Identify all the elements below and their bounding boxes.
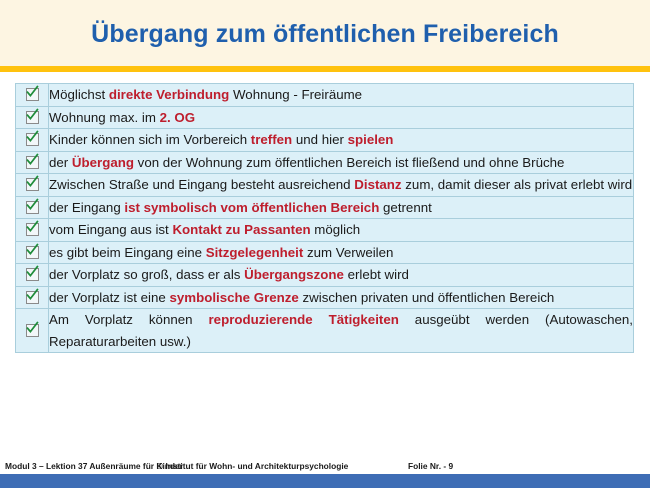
checklist-item-text: vom Eingang aus ist Kontakt zu Passanten…	[49, 219, 634, 242]
checkbox-cell[interactable]	[16, 129, 49, 152]
checkbox-checked-icon[interactable]	[26, 178, 39, 191]
item-text-segment: vom Eingang aus ist	[49, 222, 172, 237]
highlighted-keyword: Übergang	[72, 155, 134, 170]
checklist-item-text: Möglichst direkte Verbindung Wohnung - F…	[49, 84, 634, 107]
checklist-row[interactable]: der Vorplatz so groß, dass er als Überga…	[16, 264, 634, 287]
checklist-row[interactable]: der Vorplatz ist eine symbolische Grenze…	[16, 286, 634, 309]
checkbox-checked-icon[interactable]	[26, 291, 39, 304]
highlighted-keyword: 2. OG	[160, 110, 195, 125]
item-text-segment: zum, damit dieser als privat erlebt wird	[402, 177, 633, 192]
slide-footer: Modul 3 – Lektion 37 Außenräume für Kind…	[0, 458, 650, 474]
checklist-item-text: es gibt beim Eingang eine Sitzgelegenhei…	[49, 241, 634, 264]
page-title: Übergang zum öffentlichen Freibereich	[91, 22, 559, 47]
item-text-segment: Kinder können sich im Vorbereich	[49, 132, 251, 147]
item-text-segment: Wohnung - Freiräume	[229, 87, 362, 102]
checkbox-checked-icon[interactable]	[26, 268, 39, 281]
checkbox-cell[interactable]	[16, 286, 49, 309]
footer-slide-number: Folie Nr. - 9	[408, 461, 453, 471]
item-text-segment: Am Vorplatz können	[49, 312, 209, 327]
item-text-segment: der Vorplatz ist eine	[49, 290, 169, 305]
item-text-segment: möglich	[311, 222, 361, 237]
checkbox-checked-icon[interactable]	[26, 156, 39, 169]
checklist-row[interactable]: der Eingang ist symbolisch vom öffentlic…	[16, 196, 634, 219]
checklist-item-text: der Vorplatz ist eine symbolische Grenze…	[49, 286, 634, 309]
highlighted-keyword: Übergangszone	[244, 267, 344, 282]
footer-copyright-label: © Institut für Wohn- und Architekturpsyc…	[157, 461, 348, 471]
highlighted-keyword: Kontakt zu Passanten	[172, 222, 310, 237]
checklist-row[interactable]: der Übergang von der Wohnung zum öffentl…	[16, 151, 634, 174]
item-text-segment: es gibt beim Eingang eine	[49, 245, 206, 260]
checkbox-checked-icon[interactable]	[26, 133, 39, 146]
checklist-body: Möglichst direkte Verbindung Wohnung - F…	[16, 84, 634, 353]
checklist-row[interactable]: es gibt beim Eingang eine Sitzgelegenhei…	[16, 241, 634, 264]
highlighted-keyword: ist symbolisch vom öffentlichen Bereich	[124, 200, 379, 215]
item-text-segment: Möglichst	[49, 87, 109, 102]
item-text-segment: Zwischen Straße und Eingang besteht ausr…	[49, 177, 354, 192]
checklist-row[interactable]: vom Eingang aus ist Kontakt zu Passanten…	[16, 219, 634, 242]
item-text-segment: getrennt	[379, 200, 432, 215]
checklist-item-text: Am Vorplatz können reproduzierende Tätig…	[49, 309, 634, 353]
checklist-item-text: der Vorplatz so groß, dass er als Überga…	[49, 264, 634, 287]
checkbox-checked-icon[interactable]	[26, 246, 39, 259]
checkbox-checked-icon[interactable]	[26, 201, 39, 214]
highlighted-keyword: Distanz	[354, 177, 401, 192]
checklist-row[interactable]: Kinder können sich im Vorbereich treffen…	[16, 129, 634, 152]
item-text-segment: der	[49, 155, 72, 170]
checkbox-cell[interactable]	[16, 241, 49, 264]
checklist-table: Möglichst direkte Verbindung Wohnung - F…	[15, 83, 634, 353]
highlighted-keyword: symbolische Grenze	[169, 290, 298, 305]
highlighted-keyword: direkte Verbindung	[109, 87, 229, 102]
checklist-item-text: Kinder können sich im Vorbereich treffen…	[49, 129, 634, 152]
checklist-item-text: Wohnung max. im 2. OG	[49, 106, 634, 129]
title-underline-rule	[0, 66, 650, 72]
checkbox-checked-icon[interactable]	[26, 111, 39, 124]
item-text-segment: zwischen privaten und öffentlichen Berei…	[299, 290, 555, 305]
item-text-segment: erlebt wird	[344, 267, 409, 282]
checkbox-cell[interactable]	[16, 84, 49, 107]
checkbox-cell[interactable]	[16, 106, 49, 129]
checkbox-cell[interactable]	[16, 219, 49, 242]
checkbox-cell[interactable]	[16, 309, 49, 353]
checkbox-cell[interactable]	[16, 264, 49, 287]
item-text-segment: Wohnung max. im	[49, 110, 160, 125]
checkbox-cell[interactable]	[16, 151, 49, 174]
slide-header: Übergang zum öffentlichen Freibereich	[0, 0, 650, 66]
checklist-item-text: Zwischen Straße und Eingang besteht ausr…	[49, 174, 634, 197]
highlighted-keyword: Sitzgelegenheit	[206, 245, 304, 260]
item-text-segment: und hier	[292, 132, 347, 147]
highlighted-keyword: spielen	[348, 132, 394, 147]
item-text-segment: der Eingang	[49, 200, 124, 215]
checkbox-cell[interactable]	[16, 174, 49, 197]
checklist-row[interactable]: Am Vorplatz können reproduzierende Tätig…	[16, 309, 634, 353]
checklist-row[interactable]: Zwischen Straße und Eingang besteht ausr…	[16, 174, 634, 197]
item-text-segment: der Vorplatz so groß, dass er als	[49, 267, 244, 282]
item-text-segment: zum Verweilen	[303, 245, 393, 260]
checkbox-checked-icon[interactable]	[26, 223, 39, 236]
checkbox-cell[interactable]	[16, 196, 49, 219]
checklist-item-text: der Übergang von der Wohnung zum öffentl…	[49, 151, 634, 174]
checklist-row[interactable]: Wohnung max. im 2. OG	[16, 106, 634, 129]
item-text-segment: von der Wohnung zum öffentlichen Bereich…	[134, 155, 564, 170]
highlighted-keyword: treffen	[251, 132, 292, 147]
checklist-item-text: der Eingang ist symbolisch vom öffentlic…	[49, 196, 634, 219]
highlighted-keyword: reproduzierende Tätigkeiten	[209, 312, 399, 327]
checklist-row[interactable]: Möglichst direkte Verbindung Wohnung - F…	[16, 84, 634, 107]
checkbox-checked-icon[interactable]	[26, 88, 39, 101]
checkbox-checked-icon[interactable]	[26, 324, 39, 337]
footer-accent-bar	[0, 474, 650, 488]
